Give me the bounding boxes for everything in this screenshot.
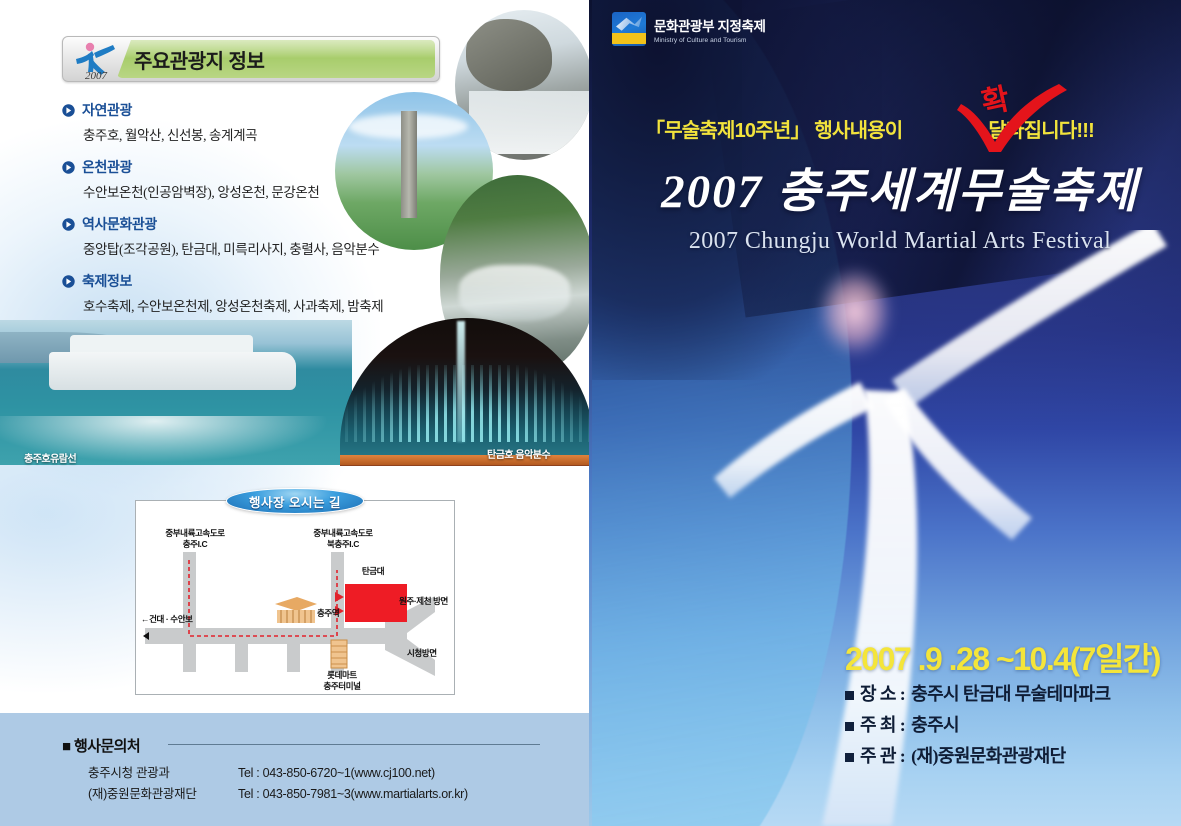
- ship-wake-shape: [0, 416, 352, 465]
- map-label-geondae-suanbo: ←건대 · 수안보: [141, 614, 215, 625]
- list-item: 온천관광 수안보온천(인공암벽장), 앙성온천, 문강온천: [62, 157, 462, 201]
- ship-deck-shape: [70, 335, 253, 358]
- info-value: (재)중원문화관광재단: [911, 742, 1065, 768]
- fountain-jets-shape: [345, 365, 589, 442]
- list-item-title: 자연관광: [82, 100, 132, 120]
- info-row-organizer: 주 관 : (재)중원문화관광재단: [845, 742, 1110, 768]
- list-item-head: 역사문화관광: [62, 214, 462, 234]
- arrow-circle-icon: [62, 218, 75, 231]
- contact-title: ■ 행사문의처: [62, 735, 140, 756]
- fountain-main-jet-shape: [457, 321, 465, 442]
- contact-tel[interactable]: Tel : 043-850-6720~1(www.cj100.net): [238, 763, 435, 784]
- contact-org: (재)중원문화관광재단: [88, 784, 238, 805]
- hill-shape: [0, 332, 148, 364]
- ski-onsen-photo: [455, 10, 592, 160]
- list-item: 자연관광 충주호, 월악산, 신선봉, 송계계곡: [62, 100, 462, 144]
- info-value: 충주시 탄금대 무술테마파크: [911, 680, 1110, 706]
- ministry-korean-label: 문화관광부 지정축제: [654, 15, 766, 35]
- arrow-circle-icon: [62, 104, 75, 117]
- logo-year-text: 2007: [85, 70, 108, 81]
- road-vertical-mid2: [287, 628, 300, 672]
- info-value: 충주시: [911, 711, 959, 737]
- list-item-title: 역사문화관광: [82, 214, 157, 234]
- contact-org: 충주시청 관광과: [88, 763, 238, 784]
- map-label-bukchungju-ic: 중부내륙고속도로 북충주I.C: [293, 528, 393, 549]
- list-item-title: 축제정보: [82, 271, 132, 291]
- list-item: 역사문화관광 중앙탑(조각공원), 탄금대, 미륵리사지, 충렬사, 음악분수: [62, 214, 462, 258]
- tourist-info-list: 자연관광 충주호, 월악산, 신선봉, 송계계곡 온천관광 수안보온천(인공암벽…: [62, 100, 462, 328]
- square-bullet-icon: [845, 722, 854, 731]
- directions-map: 행사장 오시는 길: [135, 500, 455, 695]
- ministry-band-shape: [612, 33, 646, 44]
- ministry-english-label: Ministry of Culture and Tourism: [654, 37, 766, 44]
- contact-divider: [168, 744, 540, 745]
- contact-row: 충주시청 관광과 Tel : 043-850-6720~1(www.cj100.…: [88, 763, 468, 784]
- info-label: 장 소 :: [860, 680, 905, 706]
- arrow-circle-icon: [62, 275, 75, 288]
- contact-tel[interactable]: Tel : 043-850-7981~3(www.martialarts.or.…: [238, 784, 468, 805]
- list-item-body: 충주호, 월악산, 신선봉, 송계계곡: [83, 124, 462, 144]
- contact-title-text: 행사문의처: [74, 738, 140, 755]
- panel-seam: [589, 0, 592, 826]
- contact-row: (재)중원문화관광재단 Tel : 043-850-7981~3(www.mar…: [88, 784, 468, 805]
- music-fountain-caption: 탄금호 음악분수: [487, 446, 550, 461]
- page-title: 주요관광지 정보: [134, 45, 264, 74]
- check-icon: [955, 80, 1075, 152]
- ministry-text: 문화관광부 지정축제 Ministry of Culture and Touri…: [654, 15, 766, 44]
- contact-footer: ■ 행사문의처 충주시청 관광과 Tel : 043-850-6720~1(ww…: [0, 713, 592, 826]
- square-bullet-icon: ■: [62, 738, 70, 755]
- music-fountain-photo: [340, 318, 592, 466]
- lotte-mart-icon: [331, 640, 347, 668]
- map-label-chungju-ic: 중부내륙고속도로 충주I.C: [145, 528, 245, 549]
- red-check-mark: 확: [955, 80, 1075, 152]
- tagline-left-text: 「무술축제10주년」 행사내용이: [645, 114, 902, 143]
- list-item-title: 온천관광: [82, 157, 132, 177]
- map-label-wonju-jecheon: 원주·제천 방면: [399, 596, 455, 607]
- brochure-page: 충주호유람선 탄금호 음악분수 2007 주요관광지 정보: [0, 0, 1181, 826]
- arrow-circle-icon: [62, 161, 75, 174]
- ship-hull-shape: [49, 352, 295, 390]
- map-badge: 행사장 오시는 길: [226, 488, 364, 514]
- cruise-ship-photo: [0, 320, 352, 465]
- square-bullet-icon: [845, 753, 854, 762]
- map-label-tangeumdae: 탄금대: [347, 566, 399, 577]
- section-header-tourist-info: 2007 주요관광지 정보: [62, 36, 440, 82]
- chungju-2007-figure-logo: 2007: [68, 39, 126, 81]
- info-row-host: 주 최 : 충주시: [845, 711, 1110, 737]
- map-label-city-hall: 시청방면: [407, 648, 453, 659]
- valley-stream-photo: [440, 175, 592, 375]
- map-label-lotte-mart-terminal: 롯데마트 충주터미널: [313, 670, 371, 691]
- ministry-swoosh-shape: [616, 16, 642, 34]
- train-station-icon: [275, 597, 317, 623]
- list-item-body: 중앙탑(조각공원), 탄금대, 미륵리사지, 충렬사, 음악분수: [83, 238, 462, 258]
- map-badge-label: 행사장 오시는 길: [249, 492, 341, 511]
- list-item-body: 호수축제, 수안보온천제, 앙성온천축제, 사과축제, 밤축제: [83, 295, 462, 315]
- cruise-ship-caption: 충주호유람선: [24, 450, 76, 465]
- list-item-body: 수안보온천(인공암벽장), 앙성온천, 문강온천: [83, 181, 462, 201]
- fountain-base-bar: [340, 455, 592, 465]
- festival-info-list: 장 소 : 충주시 탄금대 무술테마파크 주 최 : 충주시 주 관 : (재)…: [845, 680, 1110, 773]
- list-item-head: 축제정보: [62, 271, 462, 291]
- square-bullet-icon: [845, 691, 854, 700]
- ministry-logo: 문화관광부 지정축제 Ministry of Culture and Touri…: [612, 12, 766, 46]
- list-item-head: 자연관광: [62, 100, 462, 120]
- festival-title-korean: 2007 충주세계무술축제: [640, 152, 1160, 221]
- info-label: 주 관 :: [860, 742, 905, 768]
- list-item-head: 온천관광: [62, 157, 462, 177]
- info-row-venue: 장 소 : 충주시 탄금대 무술테마파크: [845, 680, 1110, 706]
- contact-rows: 충주시청 관광과 Tel : 043-850-6720~1(www.cj100.…: [88, 763, 468, 804]
- road-vertical-mid1: [235, 628, 248, 672]
- fountain-rim-shape: [340, 457, 592, 466]
- list-item: 축제정보 호수축제, 수안보온천제, 앙성온천축제, 사과축제, 밤축제: [62, 271, 462, 315]
- ministry-mark-icon: [612, 12, 646, 46]
- info-label: 주 최 :: [860, 711, 905, 737]
- left-panel-back-cover: 충주호유람선 탄금호 음악분수 2007 주요관광지 정보: [0, 0, 592, 826]
- festival-title-english: 2007 Chungju World Martial Arts Festival: [640, 228, 1160, 255]
- map-label-chungju-station: 충주역: [317, 608, 359, 619]
- festival-date: 2007 .9 .28 ~10.4(7일간): [845, 634, 1160, 680]
